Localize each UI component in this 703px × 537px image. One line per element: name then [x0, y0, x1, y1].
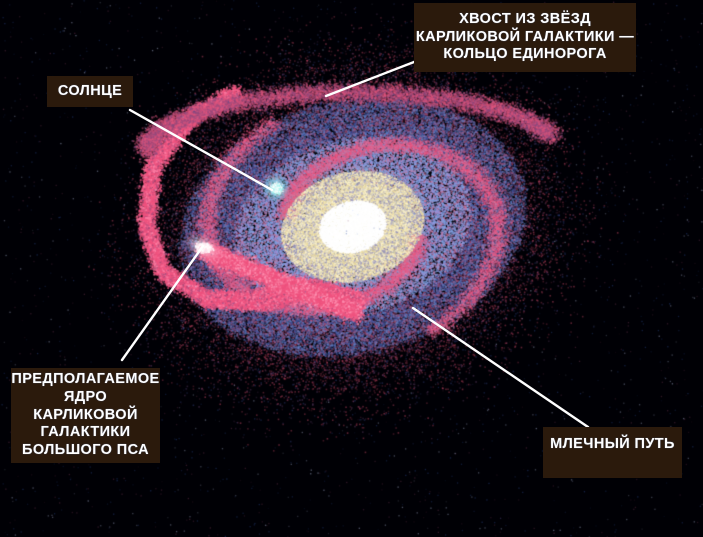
sun-label[interactable]: СОЛНЦЕ — [47, 76, 133, 107]
milky-way-label[interactable]: МЛЕЧНЫЙ ПУТЬ — [543, 427, 682, 478]
astronomy-diagram: ХВОСТ ИЗ ЗВЁЗД КАРЛИКОВОЙ ГАЛАКТИКИ — КО… — [0, 0, 703, 537]
sun-label-text: СОЛНЦЕ — [47, 83, 133, 101]
sun-label-leader-line — [130, 110, 272, 190]
canis-major-core-label-leader-line — [122, 246, 203, 360]
canis-major-core-label-text: ПРЕДПОЛАГАЕМОЕ ЯДРО КАРЛИКОВОЙ ГАЛАКТИКИ… — [11, 371, 160, 459]
monoceros-ring-label[interactable]: ХВОСТ ИЗ ЗВЁЗД КАРЛИКОВОЙ ГАЛАКТИКИ — КО… — [414, 3, 636, 72]
milky-way-label-leader-line — [413, 308, 588, 427]
canis-major-core-label[interactable]: ПРЕДПОЛАГАЕМОЕ ЯДРО КАРЛИКОВОЙ ГАЛАКТИКИ… — [11, 368, 160, 463]
monoceros-ring-label-text: ХВОСТ ИЗ ЗВЁЗД КАРЛИКОВОЙ ГАЛАКТИКИ — КО… — [414, 11, 636, 64]
milky-way-label-text: МЛЕЧНЫЙ ПУТЬ — [543, 436, 682, 454]
monoceros-ring-label-leader-line — [326, 62, 414, 96]
